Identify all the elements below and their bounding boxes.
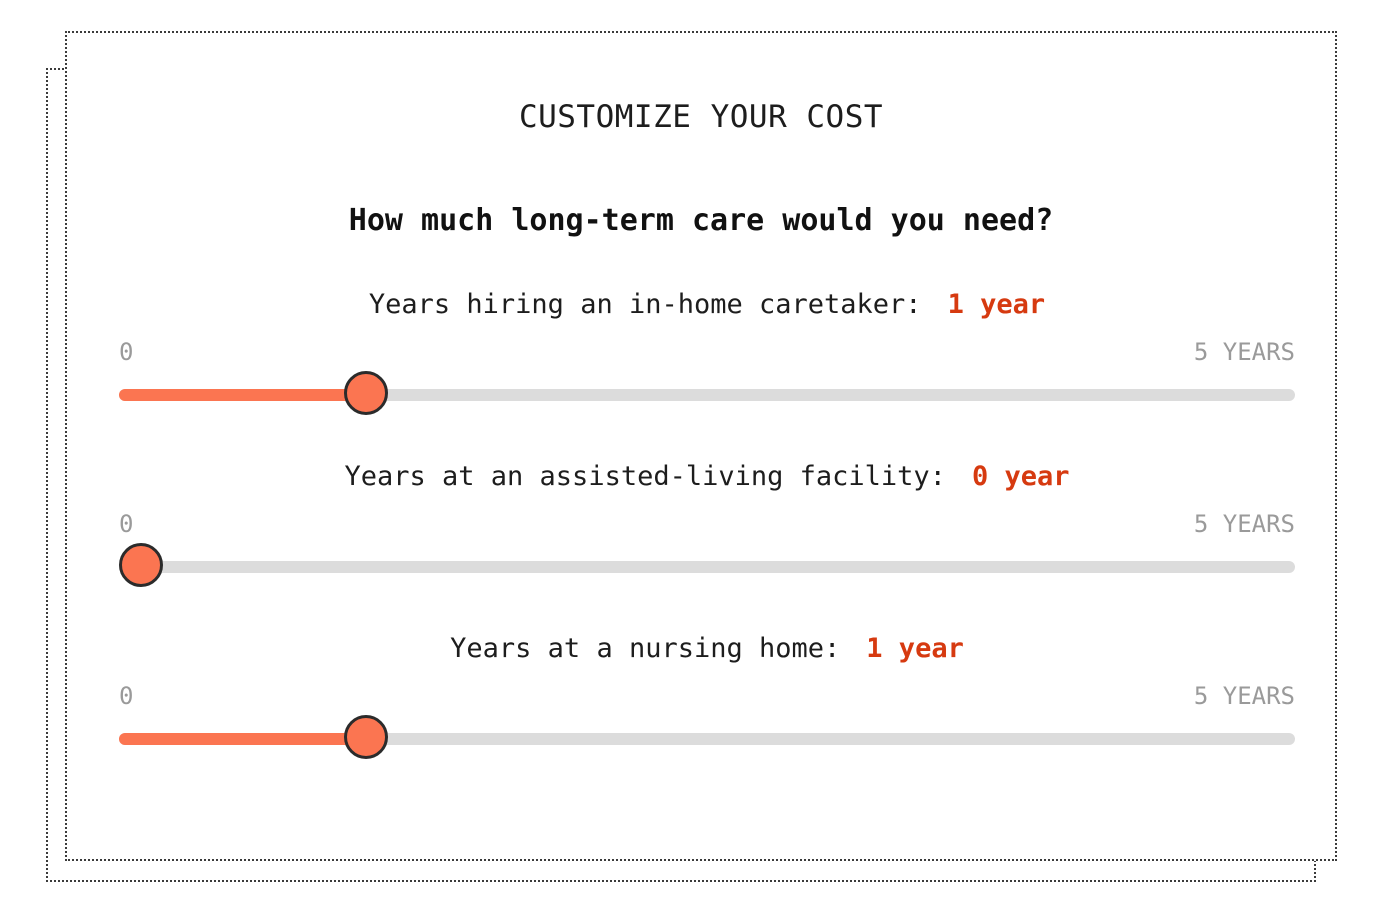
slider-track-fill bbox=[119, 389, 366, 401]
slider-label-text: Years at a nursing home: bbox=[450, 633, 840, 664]
slider-label-in-home-caretaker: Years hiring an in-home caretaker: 1 yea… bbox=[119, 288, 1295, 322]
slider-group-assisted-living: Years at an assisted-living facility: 0 … bbox=[119, 460, 1295, 591]
customize-cost-page: { "card": { "title": "CUSTOMIZE YOUR COS… bbox=[0, 0, 1398, 920]
slider-nursing-home[interactable] bbox=[119, 715, 1295, 763]
range-max-label: 5 YEARS bbox=[1194, 509, 1295, 539]
slider-label-assisted-living: Years at an assisted-living facility: 0 … bbox=[119, 460, 1295, 494]
range-labels-in-home-caretaker: 0 5 YEARS bbox=[119, 337, 1295, 367]
slider-value-in-home-caretaker: 1 year bbox=[948, 289, 1046, 320]
range-min-label: 0 bbox=[119, 681, 133, 711]
range-min-label: 0 bbox=[119, 337, 133, 367]
slider-group-in-home-caretaker: Years hiring an in-home caretaker: 1 yea… bbox=[119, 288, 1295, 419]
slider-label-nursing-home: Years at a nursing home: 1 year bbox=[119, 632, 1295, 666]
slider-assisted-living[interactable] bbox=[119, 543, 1295, 591]
range-labels-nursing-home: 0 5 YEARS bbox=[119, 681, 1295, 711]
slider-thumb[interactable] bbox=[344, 371, 388, 415]
slider-label-text: Years at an assisted-living facility: bbox=[344, 461, 945, 492]
slider-thumb[interactable] bbox=[344, 715, 388, 759]
slider-track[interactable] bbox=[119, 561, 1295, 573]
slider-label-text: Years hiring an in-home caretaker: bbox=[369, 289, 922, 320]
range-min-label: 0 bbox=[119, 509, 133, 539]
slider-group-nursing-home: Years at a nursing home: 1 year 0 5 YEAR… bbox=[119, 632, 1295, 763]
slider-track-fill bbox=[119, 733, 366, 745]
range-labels-assisted-living: 0 5 YEARS bbox=[119, 509, 1295, 539]
slider-value-assisted-living: 0 year bbox=[972, 461, 1070, 492]
page-subtitle: How much long-term care would you need? bbox=[67, 203, 1335, 238]
slider-thumb[interactable] bbox=[119, 543, 163, 587]
customize-cost-card: CUSTOMIZE YOUR COST How much long-term c… bbox=[65, 31, 1337, 861]
range-max-label: 5 YEARS bbox=[1194, 681, 1295, 711]
range-max-label: 5 YEARS bbox=[1194, 337, 1295, 367]
page-title: CUSTOMIZE YOUR COST bbox=[67, 99, 1335, 135]
slider-value-nursing-home: 1 year bbox=[866, 633, 964, 664]
slider-in-home-caretaker[interactable] bbox=[119, 371, 1295, 419]
